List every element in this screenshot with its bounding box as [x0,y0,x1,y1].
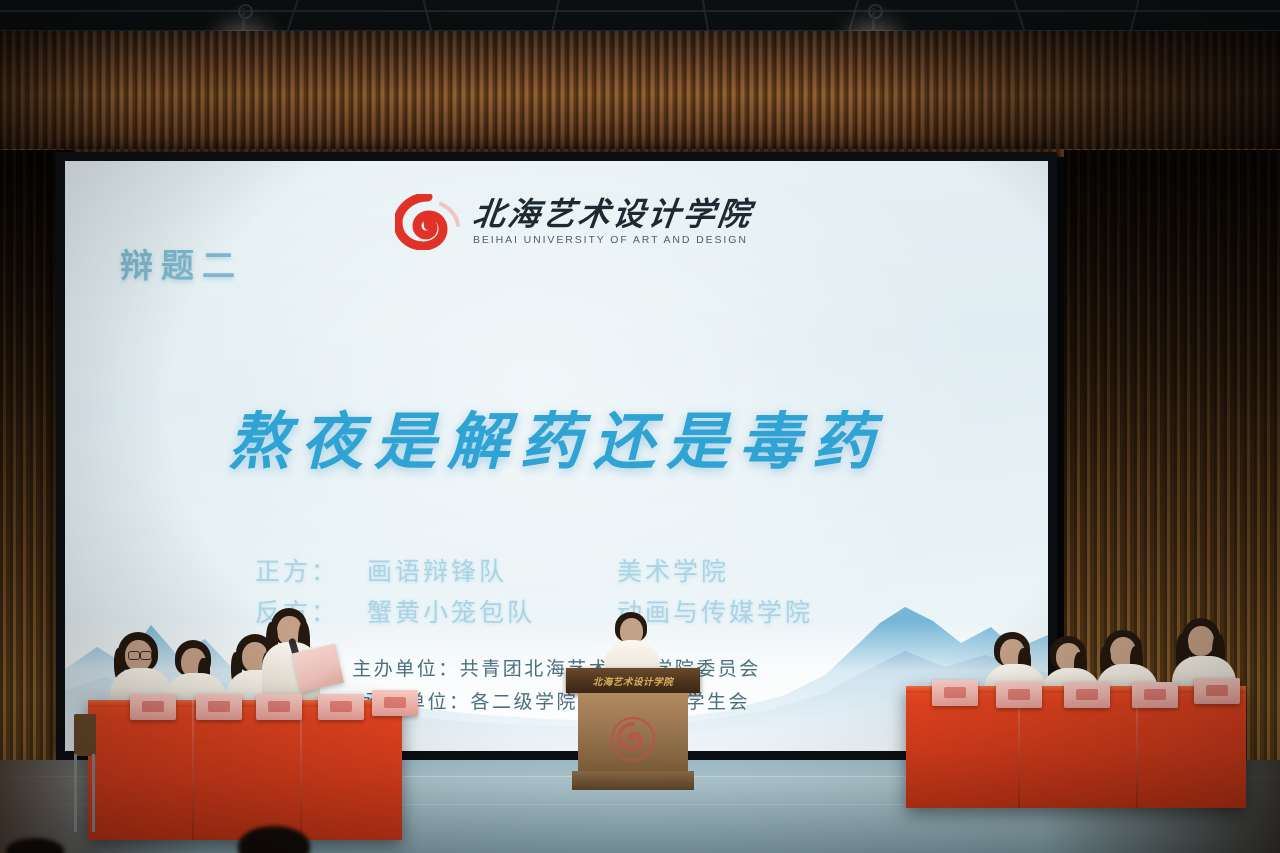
podium-sign-text: 北海艺术设计学院 [593,674,674,688]
school-name-english: BEIHAI UNIVERSITY OF ART AND DESIGN [473,235,753,246]
team-name: 画语辩锋队 [367,551,617,592]
stage-photograph: 北海艺术设计学院 BEIHAI UNIVERSITY OF ART AND DE… [0,0,1280,853]
nameplate [196,694,242,720]
team-college: 美术学院 [617,551,729,592]
curtain-valance [0,31,1280,153]
nameplate [256,694,302,720]
stage-chair [70,714,98,832]
nameplate [130,694,176,720]
speaker-podium: 北海艺术设计学院 [572,668,694,790]
team-name: 蟹黄小笼包队 [367,592,617,633]
team-row: 反方： 蟹黄小笼包队 动画与传媒学院 [255,592,813,633]
nameplate [932,680,978,706]
nameplate [1064,682,1110,708]
affirmative-team-table [88,700,402,840]
school-name-chinese: 北海艺术设计学院 [471,198,755,230]
debate-topic-label: 辩题二 [120,239,243,287]
university-swirl-crest [610,716,656,762]
debate-title: 熬夜是解药还是毒药 [65,391,1048,481]
nameplate [1194,678,1240,704]
team-listing: 正方： 画语辩锋队 美术学院 反方： 蟹黄小笼包队 动画与传媒学院 [255,551,813,634]
nameplate [372,690,418,716]
team-row: 正方： 画语辩锋队 美术学院 [255,551,813,592]
nameplate [1132,682,1178,708]
school-logo-lockup: 北海艺术设计学院 BEIHAI UNIVERSITY OF ART AND DE… [395,194,753,250]
nameplate [318,694,364,720]
red-swirl-emblem [395,194,461,250]
nameplate [996,682,1042,708]
podium-sign: 北海艺术设计学院 [566,668,700,693]
team-side-label: 正方： [255,551,367,592]
